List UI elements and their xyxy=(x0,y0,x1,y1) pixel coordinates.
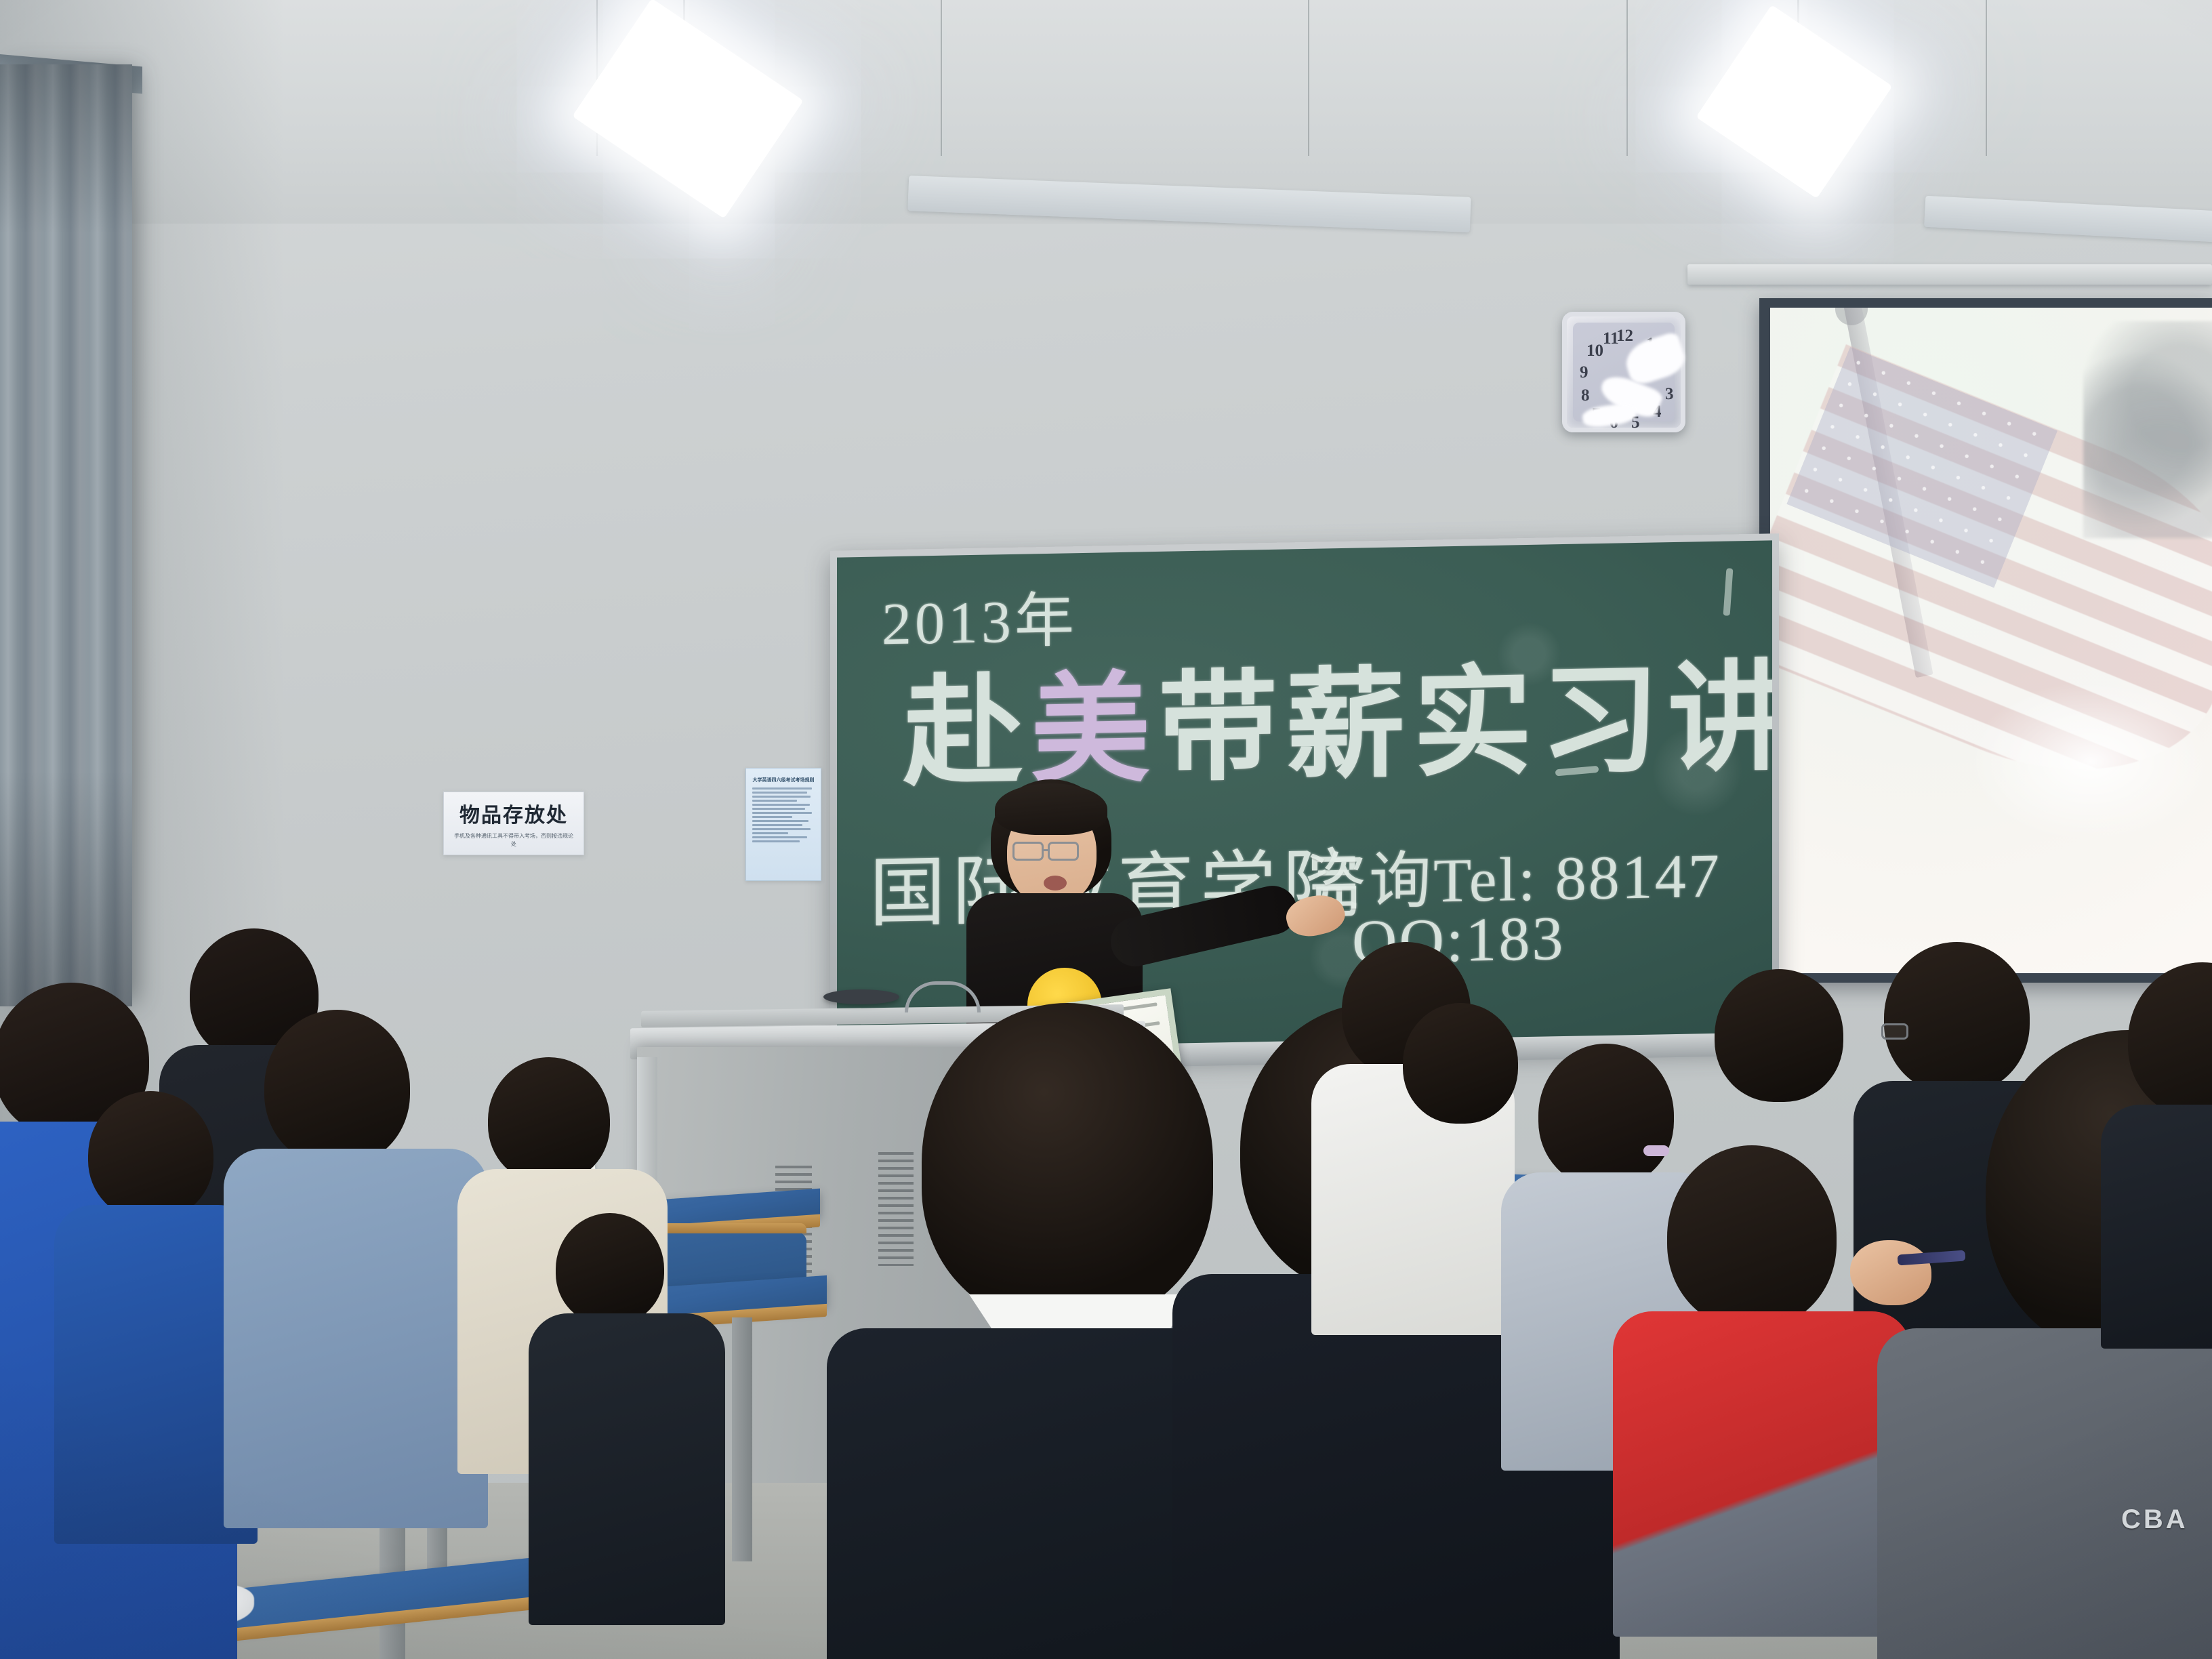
student-head xyxy=(1715,969,1843,1102)
notice-text-line xyxy=(752,787,812,790)
glasses-icon xyxy=(1012,842,1044,861)
clock-glare xyxy=(1581,402,1637,430)
presenter-arm xyxy=(1106,881,1302,971)
notice-text-line xyxy=(752,792,807,794)
glasses-icon xyxy=(1048,842,1079,861)
student xyxy=(1626,1145,1898,1620)
classroom-photo-scene: 12 1 2 3 4 5 6 7 8 9 10 11 xyxy=(0,0,2212,1659)
clock-number-12: 12 xyxy=(1616,327,1633,346)
storage-sign-title: 物品存放处 xyxy=(459,798,568,828)
presenter-fringe xyxy=(995,783,1107,835)
glasses-bridge xyxy=(1044,849,1049,851)
clock-number-11: 11 xyxy=(1603,329,1619,348)
notice-text-line xyxy=(752,796,811,798)
window-curtain xyxy=(0,64,132,1006)
tree-foliage-icon xyxy=(2083,321,2212,538)
student xyxy=(230,1010,481,1498)
student-head xyxy=(488,1057,610,1183)
exam-notice-poster: 大学英语四六级考试考场规则 xyxy=(745,768,821,881)
ceiling-seam xyxy=(1308,0,1309,156)
jacket-logo: CBA xyxy=(2121,1504,2188,1535)
student xyxy=(535,1213,725,1593)
student-hand xyxy=(1850,1240,1931,1305)
exam-notice-title: 大学英语四六级考试考场规则 xyxy=(752,777,815,784)
student-head xyxy=(1403,1003,1518,1124)
student-torso xyxy=(1877,1328,2212,1659)
clock-number-10: 10 xyxy=(1586,342,1603,361)
notice-text-line xyxy=(752,828,811,830)
student xyxy=(2114,962,2212,1261)
chalk-title-accent-char: 美 xyxy=(1031,664,1158,798)
student-head xyxy=(556,1213,664,1325)
student-torso xyxy=(2101,1105,2212,1349)
microphone-icon xyxy=(823,989,899,1004)
projection-screen-rail xyxy=(1687,264,2212,285)
projection-screen xyxy=(1759,298,2212,983)
student-torso xyxy=(224,1149,488,1528)
chalk-title-rest: 带薪实习讲座 xyxy=(1158,650,1772,796)
notice-text-line xyxy=(752,800,797,802)
notice-text-line xyxy=(752,832,788,834)
notice-text-line xyxy=(752,820,808,822)
notice-text-line xyxy=(752,816,792,818)
glasses-icon xyxy=(1881,1023,1908,1040)
notice-text-line xyxy=(752,808,805,810)
clock-number-8: 8 xyxy=(1581,386,1590,405)
student xyxy=(1396,1003,1532,1206)
student-head xyxy=(922,1003,1213,1322)
notice-text-line xyxy=(752,812,812,814)
notice-text-line xyxy=(752,824,802,826)
ceiling-seam xyxy=(941,0,942,156)
clock-number-9: 9 xyxy=(1580,363,1589,382)
wall-clock: 12 1 2 3 4 5 6 7 8 9 10 11 xyxy=(1562,312,1685,432)
student-head xyxy=(264,1010,410,1166)
projection-screen-surface xyxy=(1770,308,2212,973)
notice-text-line xyxy=(752,840,800,842)
desk-leg xyxy=(732,1317,752,1561)
clock-face: 12 1 2 3 4 5 6 7 8 9 10 11 xyxy=(1573,323,1675,422)
clock-number-3: 3 xyxy=(1665,385,1674,404)
student-torso xyxy=(1613,1311,1911,1637)
notice-text-line xyxy=(752,804,810,806)
ceiling-seam xyxy=(1626,0,1628,156)
chalk-mark xyxy=(1723,568,1734,615)
student-head xyxy=(2128,962,2212,1118)
presenter-mouth xyxy=(1044,876,1067,890)
projector-hotspot xyxy=(1969,680,2212,843)
notice-text-line xyxy=(752,836,807,838)
ceiling-seam xyxy=(1986,0,1987,156)
student xyxy=(1708,969,1857,1186)
storage-sign: 物品存放处 手机及各种通讯工具不得带入考场，否则按违规论处 xyxy=(443,792,584,855)
student-head xyxy=(88,1091,213,1220)
storage-sign-subtitle: 手机及各种通讯工具不得带入考场，否则按违规论处 xyxy=(453,832,575,848)
student-torso xyxy=(529,1313,725,1625)
